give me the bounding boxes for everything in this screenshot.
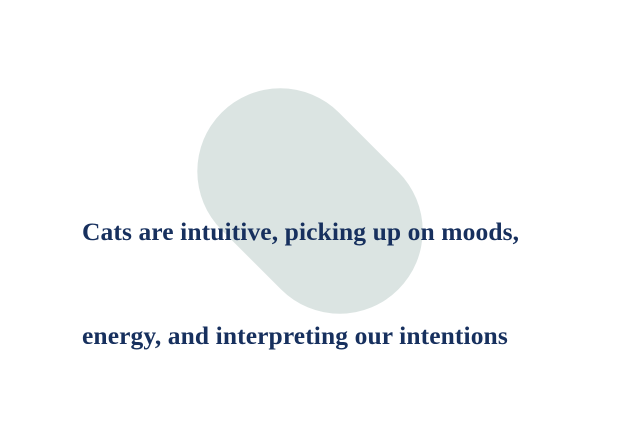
quote-card: Cats are intuitive, picking up on moods,… (0, 0, 625, 429)
quote-line-2: energy, and interpreting our intentions (82, 319, 552, 354)
quote-text-block: Cats are intuitive, picking up on moods,… (82, 146, 552, 429)
quote-line-3: through gestures and tone of voice (82, 422, 552, 429)
quote-line-1: Cats are intuitive, picking up on moods, (82, 215, 552, 250)
